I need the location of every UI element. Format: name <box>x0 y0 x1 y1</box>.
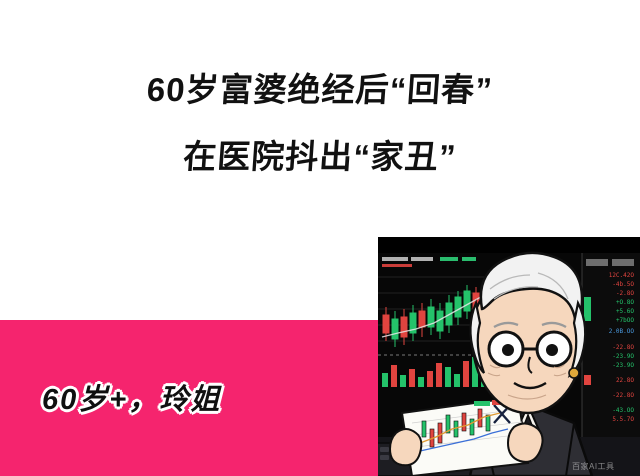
svg-text:+O.8O: +O.8O <box>616 299 634 306</box>
svg-text:5.5.7O: 5.5.7O <box>612 416 634 423</box>
banner-label: 60岁+，玲姐 <box>42 376 221 418</box>
quote-panel: 12C.42O -4b.5O -2.8O +O.8O +5.6O +7bOO 2… <box>582 253 640 453</box>
svg-text:-43.OO: -43.OO <box>612 407 634 414</box>
person-head <box>470 253 585 413</box>
svg-text:2.0B.OO: 2.0B.OO <box>609 328 635 335</box>
svg-text:-2.8O: -2.8O <box>616 290 634 297</box>
svg-text:+7bOO: +7bOO <box>616 317 634 324</box>
watermark-text: 百家AI工具 <box>572 461 615 472</box>
svg-text:12C.42O: 12C.42O <box>609 272 635 279</box>
svg-text:+5.6O: +5.6O <box>616 308 634 315</box>
title-line-1: 60岁富婆绝经后“回春” <box>0 63 640 111</box>
svg-text:-4b.5O: -4b.5O <box>612 281 634 288</box>
svg-text:-23.9O: -23.9O <box>612 362 634 369</box>
illustration-panel: 12C.42O -4b.5O -2.8O +O.8O +5.6O +7bOO 2… <box>378 237 640 476</box>
svg-text:-22.8O: -22.8O <box>612 344 634 351</box>
left-eye <box>502 344 514 356</box>
svg-text:22.8O: 22.8O <box>616 377 634 384</box>
right-eye <box>546 344 558 356</box>
earring-icon <box>569 368 579 378</box>
illustration-artwork: 12C.42O -4b.5O -2.8O +O.8O +5.6O +7bOO 2… <box>378 237 640 476</box>
svg-text:-23.9O: -23.9O <box>612 353 634 360</box>
poster-canvas: 60岁富婆绝经后“回春” 在医院抖出“家丑” 60岁+，玲姐 <box>0 0 640 476</box>
title-line-2: 在医院抖出“家丑” <box>0 130 640 178</box>
svg-text:-22.8O: -22.8O <box>612 392 634 399</box>
